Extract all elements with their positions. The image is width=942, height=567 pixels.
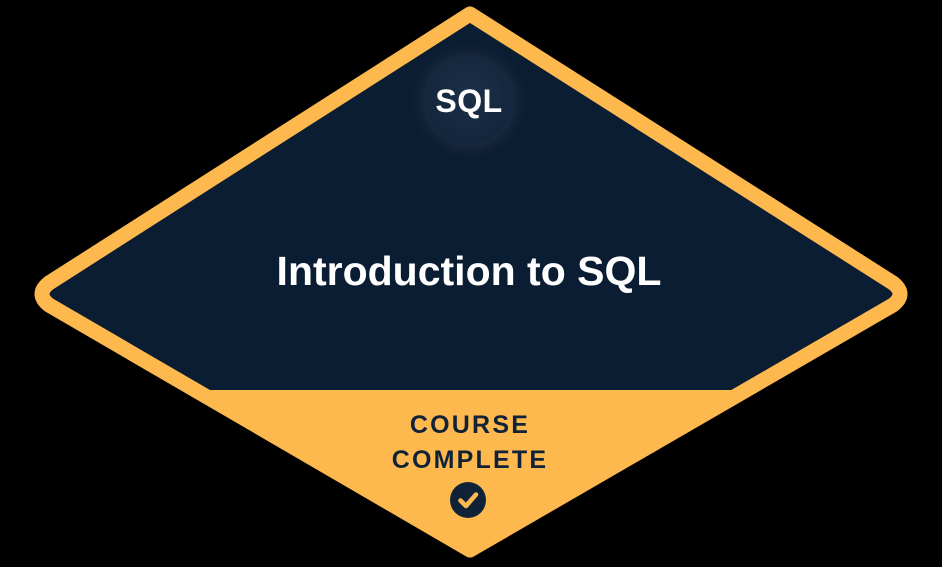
topic-ring-badge: SQL	[407, 39, 531, 163]
status-line-primary: COURSE	[410, 411, 530, 439]
status-line-secondary: COMPLETE	[392, 446, 549, 474]
course-title: Introduction to SQL	[277, 248, 662, 294]
course-completion-badge: SQL Introduction to SQL COURSE COMPLETE	[0, 0, 942, 567]
topic-label: SQL	[435, 83, 502, 119]
badge-graphic: SQL Introduction to SQL COURSE COMPLETE	[0, 0, 942, 567]
check-icon	[450, 482, 486, 518]
check-icon-circle	[450, 482, 486, 518]
